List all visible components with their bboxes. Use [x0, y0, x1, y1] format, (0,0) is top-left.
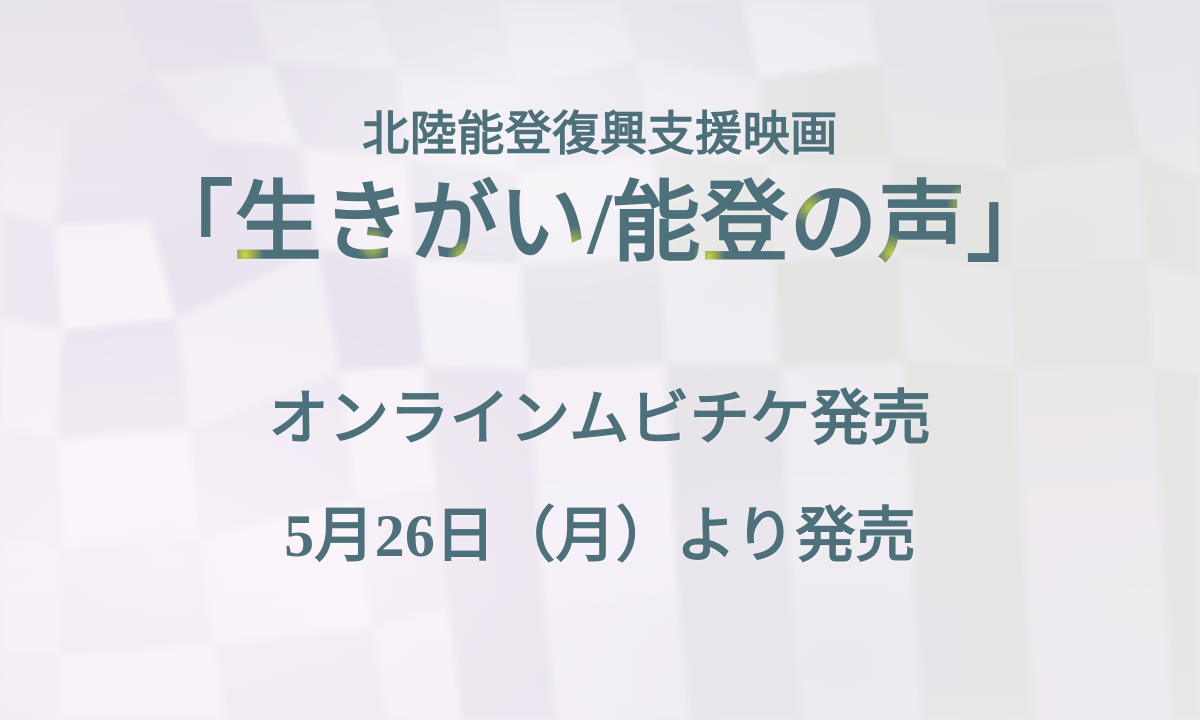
film-title-text: 「生きがい/能登の声」	[145, 176, 1054, 273]
film-title-stack: 「生きがい/能登の声」 「生きがい/能登の声」	[145, 181, 1054, 269]
eyebrow-tagline: 北陸能登復興支援映画	[0, 112, 1200, 159]
poster-content: 北陸能登復興支援映画 「生きがい/能登の声」 「生きがい/能登の声」 オンライン…	[0, 0, 1200, 720]
release-label: オンラインムビチケ発売	[0, 389, 1200, 449]
release-date: 5月26日（月）より発売	[0, 506, 1200, 566]
poster-canvas: 北陸能登復興支援映画 「生きがい/能登の声」 「生きがい/能登の声」 オンライン…	[0, 0, 1200, 720]
film-title: 「生きがい/能登の声」 「生きがい/能登の声」	[0, 181, 1200, 269]
